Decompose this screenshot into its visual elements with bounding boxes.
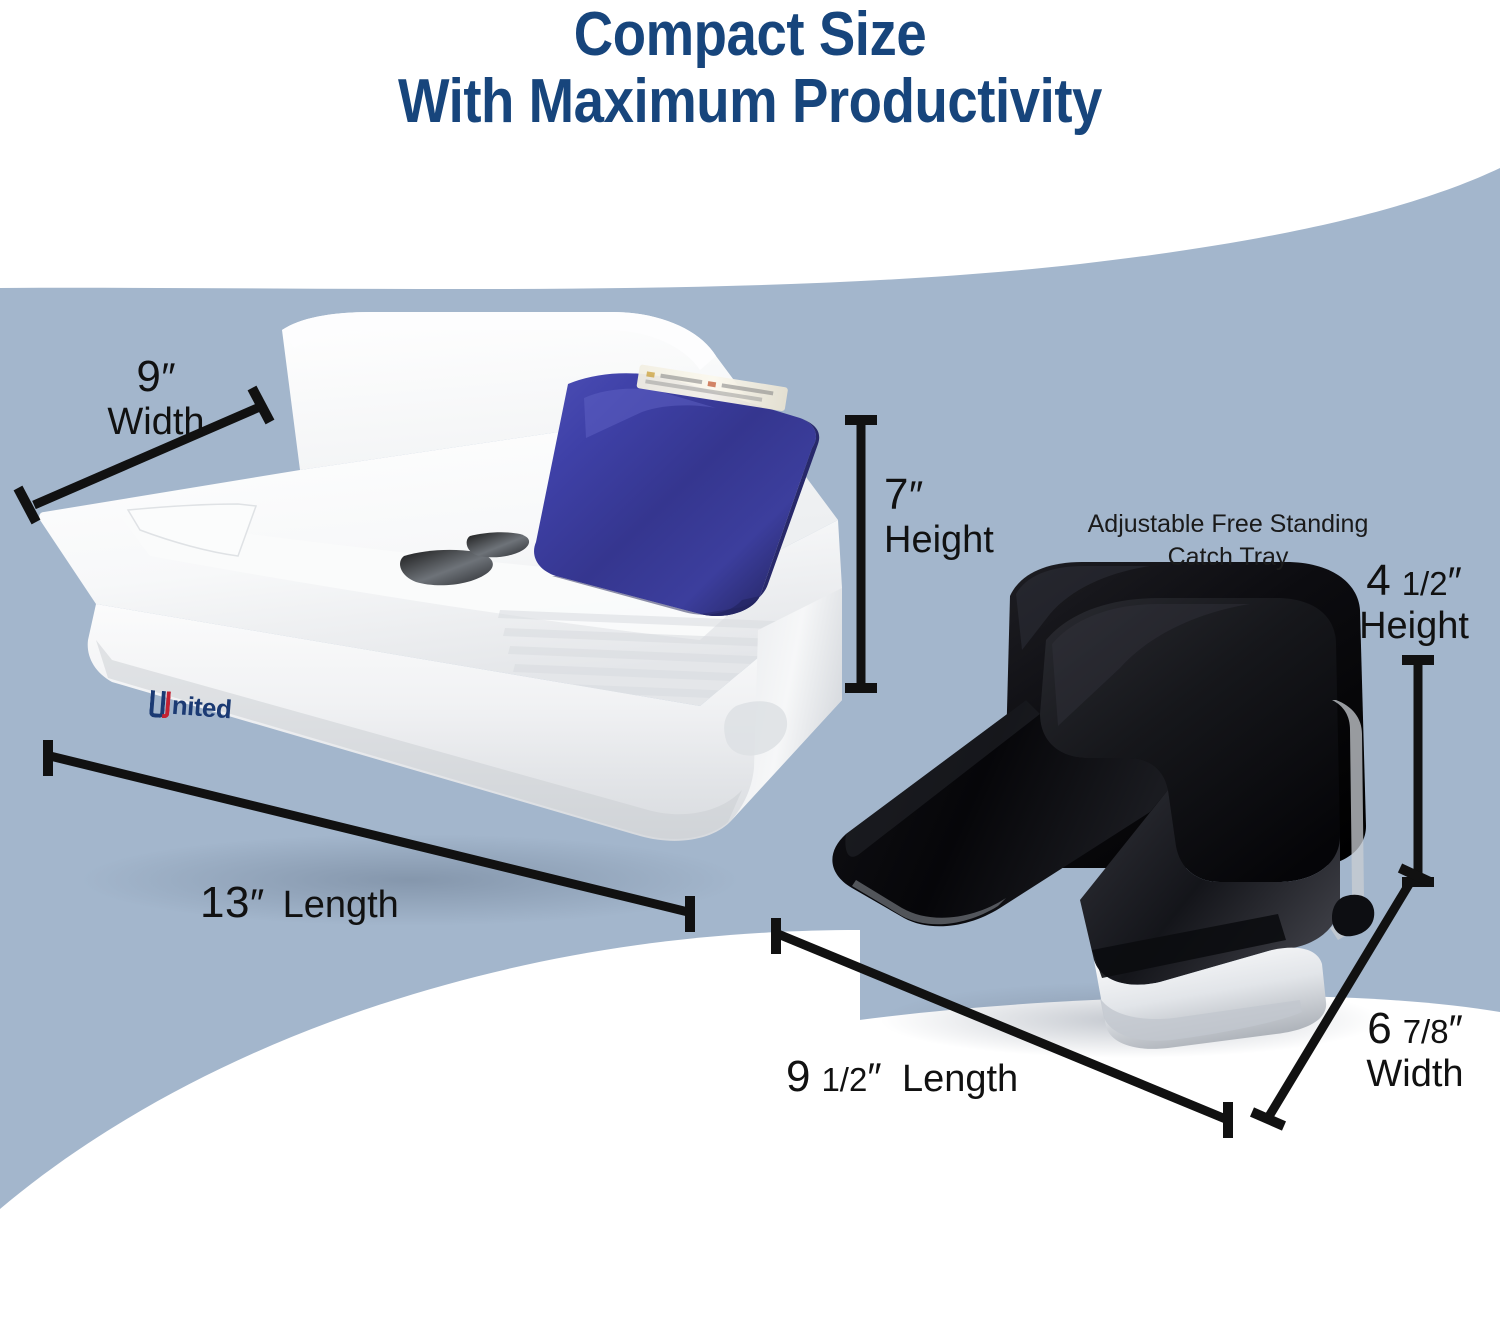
tray-height-fraction: 1/2 (1402, 565, 1448, 602)
punch-height-unit: ″ (909, 474, 923, 518)
catch-tray-caption: Adjustable Free Standing Catch Tray (1078, 508, 1378, 573)
page-title: Compact Size With Maximum Productivity (90, 2, 1410, 136)
tray-length-fraction: 1/2 (821, 1061, 867, 1098)
tray-height-value: 4 (1366, 556, 1391, 605)
tray-width-value: 6 (1367, 1004, 1392, 1053)
punch-width-label: Width (96, 401, 216, 444)
punch-height-label: Height (884, 519, 994, 562)
tray-length-unit: ″ (867, 1056, 881, 1100)
punch-width-value: 9 (136, 352, 161, 401)
tray-height-label: Height (1344, 605, 1484, 648)
tray-width-fraction: 7/8 (1403, 1013, 1449, 1050)
label-punch-height: 7″ Height (884, 470, 994, 562)
catch-tray-caption-line-1: Adjustable Free Standing (1078, 508, 1378, 541)
united-brand-logo: nited (149, 688, 233, 725)
punch-length-label: Length (283, 884, 399, 926)
infographic-canvas: Compact Size With Maximum Productivity 9… (0, 0, 1500, 1340)
tray-width-unit: ″ (1449, 1008, 1463, 1052)
tray-width-label: Width (1340, 1053, 1490, 1096)
headline-line-1: Compact Size (574, 0, 926, 69)
united-wordmark: nited (171, 690, 233, 726)
catch-tray-caption-line-2: Catch Tray (1078, 541, 1378, 574)
tray-height-unit: ″ (1448, 560, 1462, 604)
punch-length-unit: ″ (250, 882, 264, 926)
label-punch-length: 13″ Length (200, 878, 399, 927)
label-tray-width: 6 7/8″ Width (1340, 1004, 1490, 1096)
tray-length-label: Length (902, 1058, 1018, 1100)
punch-length-value: 13 (200, 878, 250, 927)
label-punch-width: 9″ Width (96, 352, 216, 444)
tray-length-value: 9 (786, 1052, 811, 1101)
united-u-icon (149, 690, 172, 719)
punch-width-unit: ″ (161, 356, 175, 400)
label-tray-height: 4 1/2″ Height (1344, 556, 1484, 648)
headline-line-2: With Maximum Productivity (90, 69, 1410, 136)
punch-height-value: 7 (884, 470, 909, 519)
label-tray-length: 9 1/2″ Length (786, 1052, 1018, 1101)
